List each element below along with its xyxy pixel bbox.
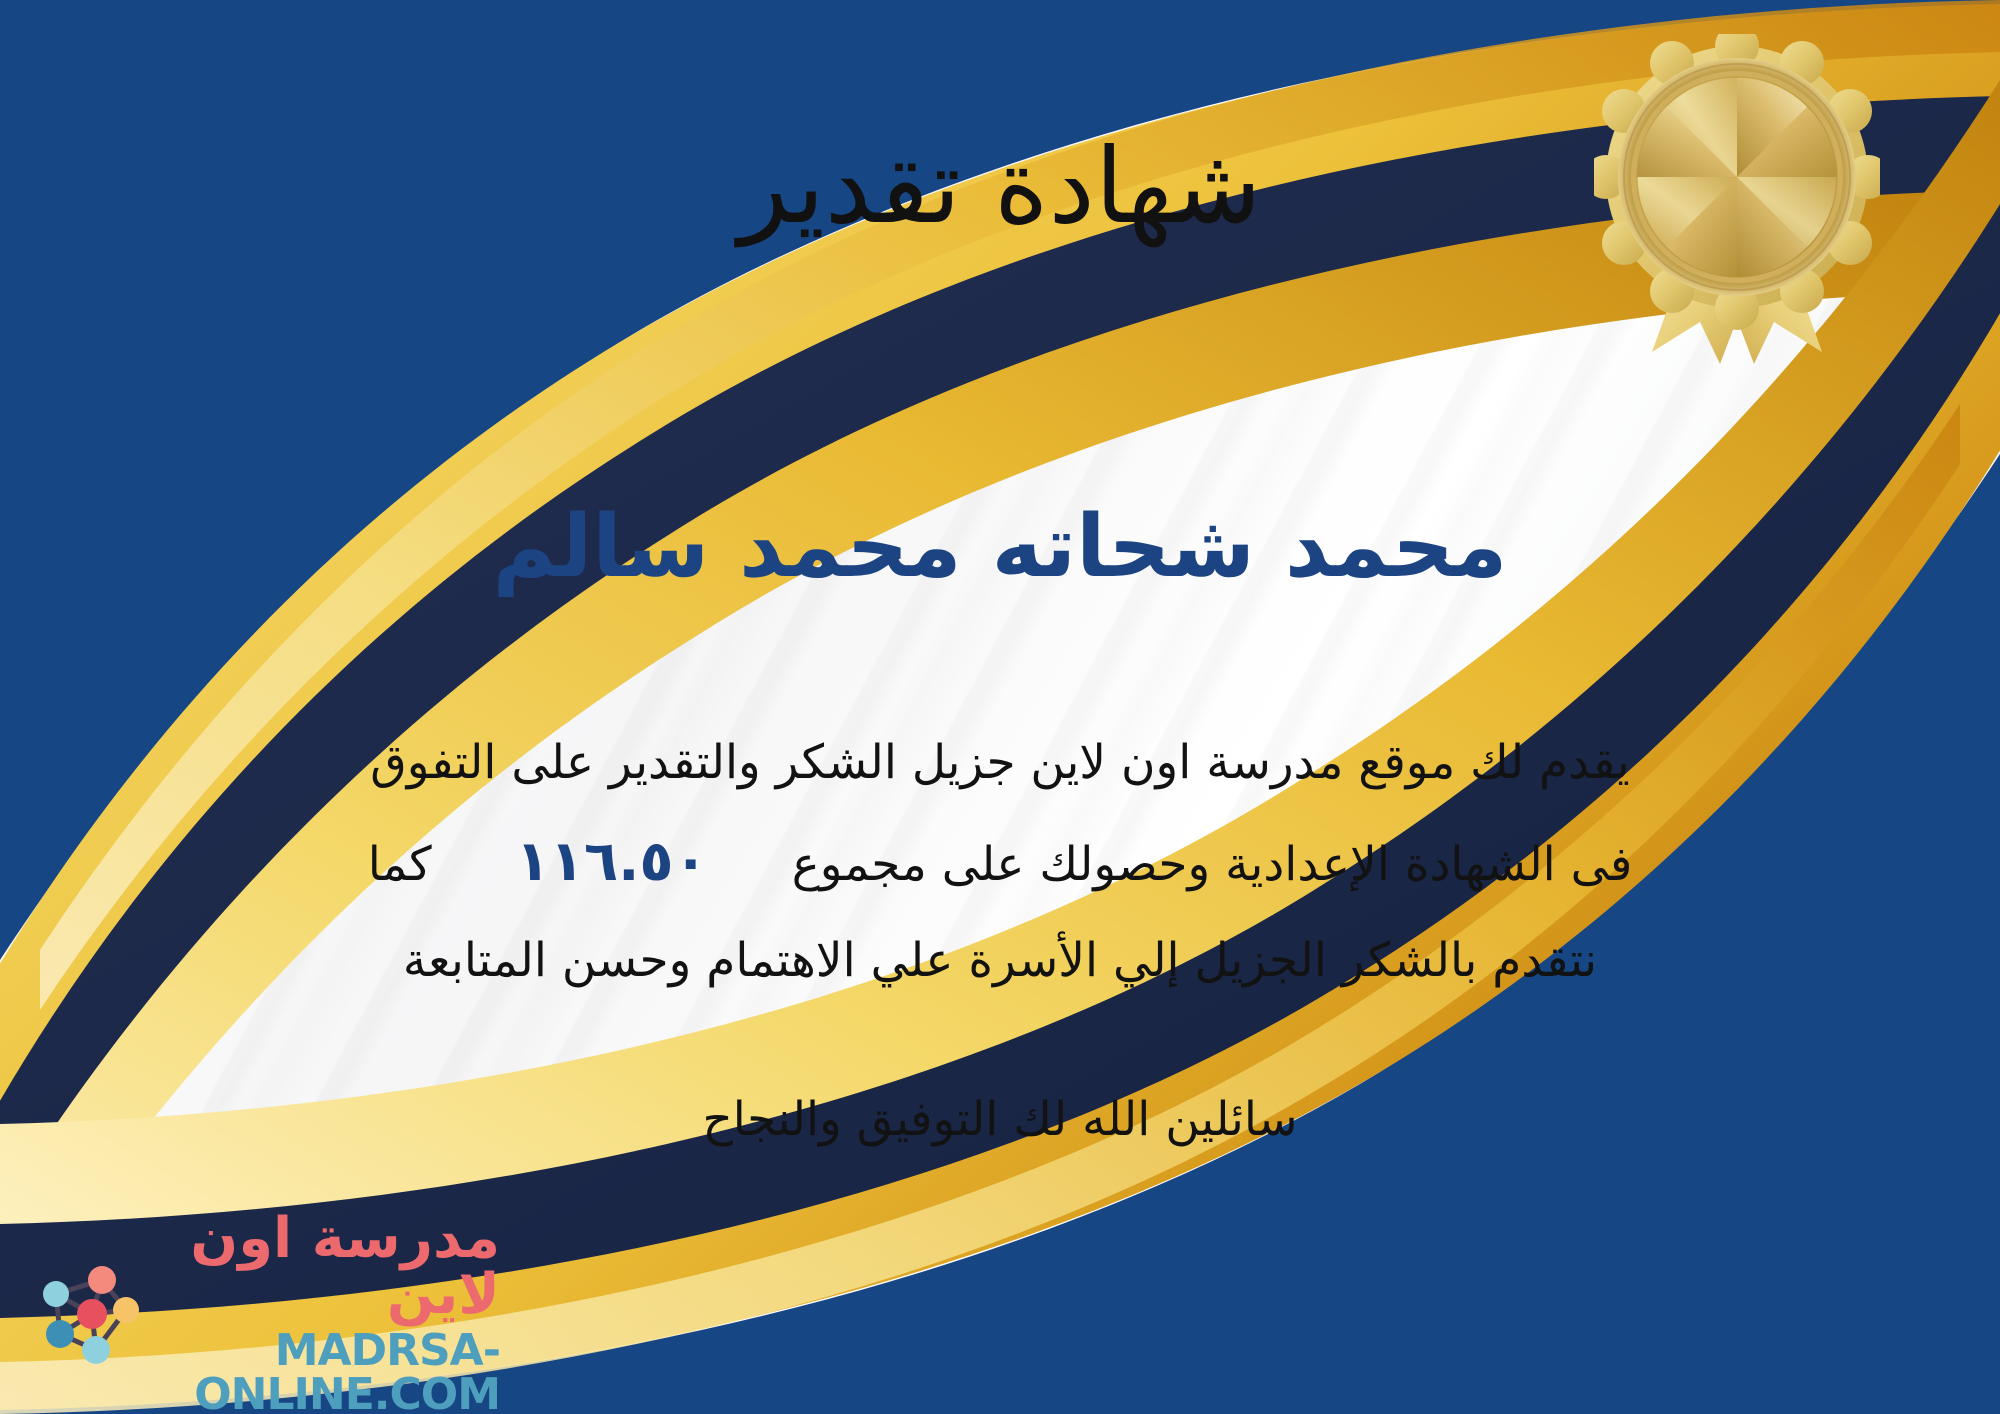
brand-wordmark: مدرسة اون لاين MADRSA-ONLINE.COM <box>148 1211 500 1414</box>
brand-logo[interactable]: مدرسة اون لاين MADRSA-ONLINE.COM <box>30 1244 500 1384</box>
certificate-canvas: شهادة تقدير محمد شحاته محمد سالم يقدم لك… <box>0 0 2000 1414</box>
body-line-1: يقدم لك موقع مدرسة اون لاين جزيل الشكر و… <box>70 718 1930 808</box>
brand-website-url: MADRSA-ONLINE.COM <box>148 1329 500 1414</box>
body-line-3: نتقدم بالشكر الجزيل إلي الأسرة علي الاهت… <box>70 916 1930 1006</box>
recipient-name: محمد شحاته محمد سالم <box>0 500 2000 595</box>
total-score-value: ١١٦.٥٠ <box>490 829 734 894</box>
page-title: شهادة تقدير <box>0 132 2000 241</box>
body-line-2-prefix: فى الشهادة الإعدادية وحصولك على مجموع <box>792 837 1633 892</box>
body-line-2-suffix: كما <box>368 837 432 892</box>
network-nodes-icon <box>30 1258 142 1370</box>
certificate-content: شهادة تقدير محمد شحاته محمد سالم يقدم لك… <box>0 0 2000 1414</box>
certificate-body-text: يقدم لك موقع مدرسة اون لاين جزيل الشكر و… <box>70 718 1930 1006</box>
closing-wishes-line: سائلين الله لك التوفيق والنجاح <box>0 1092 2000 1147</box>
body-line-2: فى الشهادة الإعدادية وحصولك على مجموع١١٦… <box>70 808 1930 916</box>
brand-arabic-name: مدرسة اون لاين <box>148 1211 500 1323</box>
